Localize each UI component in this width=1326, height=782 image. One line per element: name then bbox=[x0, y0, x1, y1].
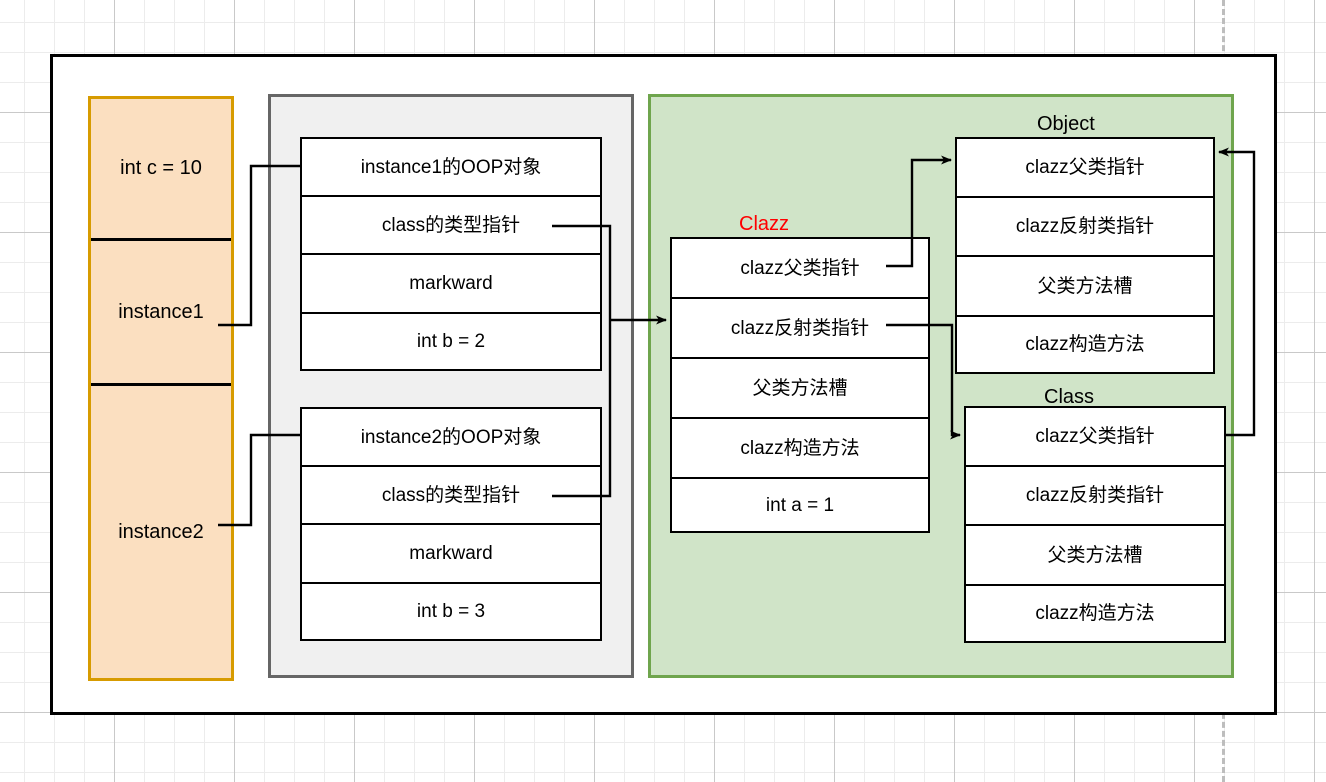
clazz-row-label: clazz构造方法 bbox=[740, 439, 859, 458]
class-row-label: clazz父类指针 bbox=[1035, 427, 1154, 446]
clazz-row-label: clazz父类指针 bbox=[740, 259, 859, 278]
clazz-row[interactable]: int a = 1 bbox=[672, 479, 928, 531]
object-row-label: clazz构造方法 bbox=[1025, 335, 1144, 354]
oop-row-label: class的类型指针 bbox=[382, 486, 520, 505]
oop-object-box-instance1: instance1的OOP对象 class的类型指针 markward int … bbox=[300, 137, 602, 371]
oop-row[interactable]: instance1的OOP对象 bbox=[302, 139, 600, 197]
object-caption: Object bbox=[1037, 113, 1095, 136]
oop-row-label: instance2的OOP对象 bbox=[361, 428, 542, 447]
clazz-row-label: 父类方法槽 bbox=[752, 379, 847, 398]
class-row-label: clazz构造方法 bbox=[1035, 604, 1154, 623]
oop-row[interactable]: markward bbox=[302, 255, 600, 314]
oop-row[interactable]: class的类型指针 bbox=[302, 197, 600, 255]
oop-row[interactable]: instance2的OOP对象 bbox=[302, 409, 600, 467]
oop-row-label: instance1的OOP对象 bbox=[361, 158, 542, 177]
stack-cell-label: int c = 10 bbox=[91, 157, 231, 180]
oop-row[interactable]: markward bbox=[302, 525, 600, 584]
clazz-row-label: int a = 1 bbox=[766, 496, 834, 515]
oop-row-label: class的类型指针 bbox=[382, 216, 520, 235]
oop-row-label: markward bbox=[409, 544, 492, 563]
object-row[interactable]: clazz父类指针 bbox=[957, 139, 1213, 198]
oop-row-label: int b = 2 bbox=[417, 332, 485, 351]
oop-row[interactable]: int b = 3 bbox=[302, 584, 600, 639]
object-box: clazz父类指针 clazz反射类指针 父类方法槽 clazz构造方法 bbox=[955, 137, 1215, 374]
object-row[interactable]: 父类方法槽 bbox=[957, 257, 1213, 317]
class-box: clazz父类指针 clazz反射类指针 父类方法槽 clazz构造方法 bbox=[964, 406, 1226, 643]
stack-cell-0[interactable]: int c = 10 bbox=[91, 99, 231, 238]
stack-cell-1[interactable]: instance1 bbox=[91, 241, 231, 383]
class-row[interactable]: clazz反射类指针 bbox=[966, 467, 1224, 526]
stack-cell-label: instance2 bbox=[91, 521, 231, 544]
oop-row[interactable]: int b = 2 bbox=[302, 314, 600, 369]
clazz-row-label: clazz反射类指针 bbox=[731, 319, 869, 338]
clazz-caption: Clazz bbox=[739, 213, 789, 236]
object-row[interactable]: clazz反射类指针 bbox=[957, 198, 1213, 257]
stack-panel: int c = 10 instance1 instance2 bbox=[88, 96, 234, 681]
class-row[interactable]: clazz父类指针 bbox=[966, 408, 1224, 467]
clazz-row[interactable]: 父类方法槽 bbox=[672, 359, 928, 419]
clazz-row[interactable]: clazz父类指针 bbox=[672, 239, 928, 299]
object-row-label: clazz反射类指针 bbox=[1016, 217, 1154, 236]
class-row[interactable]: 父类方法槽 bbox=[966, 526, 1224, 586]
oop-row[interactable]: class的类型指针 bbox=[302, 467, 600, 525]
clazz-row[interactable]: clazz反射类指针 bbox=[672, 299, 928, 359]
object-row-label: clazz父类指针 bbox=[1025, 158, 1144, 177]
stack-cell-2[interactable]: instance2 bbox=[91, 386, 231, 678]
oop-row-label: int b = 3 bbox=[417, 602, 485, 621]
class-row-label: 父类方法槽 bbox=[1047, 546, 1142, 565]
class-row-label: clazz反射类指针 bbox=[1026, 486, 1164, 505]
clazz-row[interactable]: clazz构造方法 bbox=[672, 419, 928, 479]
oop-object-box-instance2: instance2的OOP对象 class的类型指针 markward int … bbox=[300, 407, 602, 641]
object-row[interactable]: clazz构造方法 bbox=[957, 317, 1213, 372]
class-row[interactable]: clazz构造方法 bbox=[966, 586, 1224, 641]
object-row-label: 父类方法槽 bbox=[1037, 277, 1132, 296]
oop-row-label: markward bbox=[409, 274, 492, 293]
clazz-box: clazz父类指针 clazz反射类指针 父类方法槽 clazz构造方法 int… bbox=[670, 237, 930, 533]
stack-cell-label: instance1 bbox=[91, 301, 231, 324]
